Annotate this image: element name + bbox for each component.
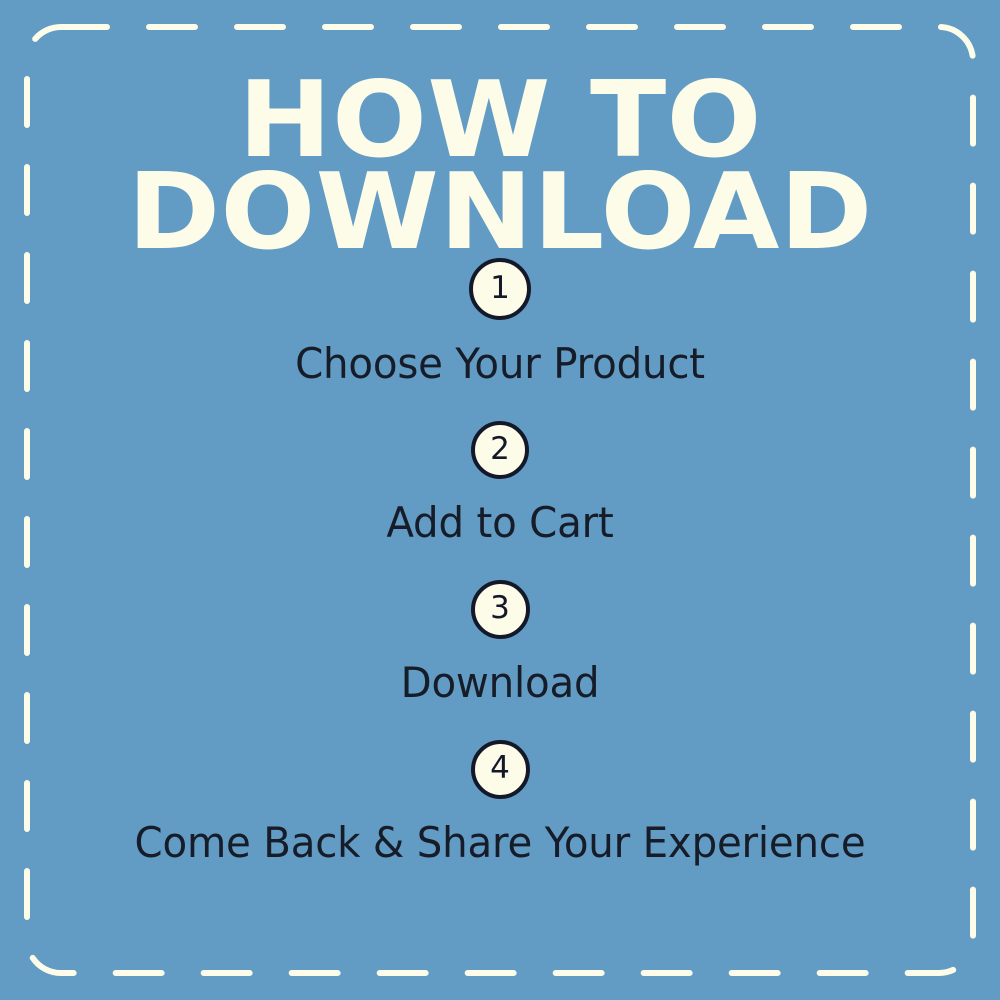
step-item-4: 4 Come Back & Share Your Experience	[0, 740, 1000, 866]
step-number-badge-3: 3	[471, 580, 530, 639]
page-title: HOW TO DOWNLOAD	[0, 78, 1000, 240]
step-label-4: Come Back & Share Your Experience	[20, 819, 980, 866]
step-label-2: Add to Cart	[20, 499, 980, 546]
steps-list: 1 Choose Your Product 2 Add to Cart 3 Do…	[0, 258, 1000, 866]
step-number-1: 1	[490, 273, 510, 304]
step-item-3: 3 Download	[0, 580, 1000, 706]
step-number-3: 3	[490, 593, 510, 624]
step-label-1: Choose Your Product	[20, 340, 980, 387]
step-number-badge-2: 2	[471, 421, 529, 479]
step-item-2: 2 Add to Cart	[0, 421, 1000, 546]
step-number-4: 4	[490, 753, 510, 784]
page-title-line-2: DOWNLOAD	[0, 170, 1000, 256]
step-label-3: Download	[20, 659, 980, 706]
step-number-2: 2	[490, 434, 510, 465]
how-to-download-poster: HOW TO DOWNLOAD 1 Choose Your Product 2 …	[0, 0, 1000, 1000]
step-item-1: 1 Choose Your Product	[0, 258, 1000, 387]
step-number-badge-4: 4	[471, 740, 530, 799]
step-number-badge-1: 1	[469, 258, 531, 320]
